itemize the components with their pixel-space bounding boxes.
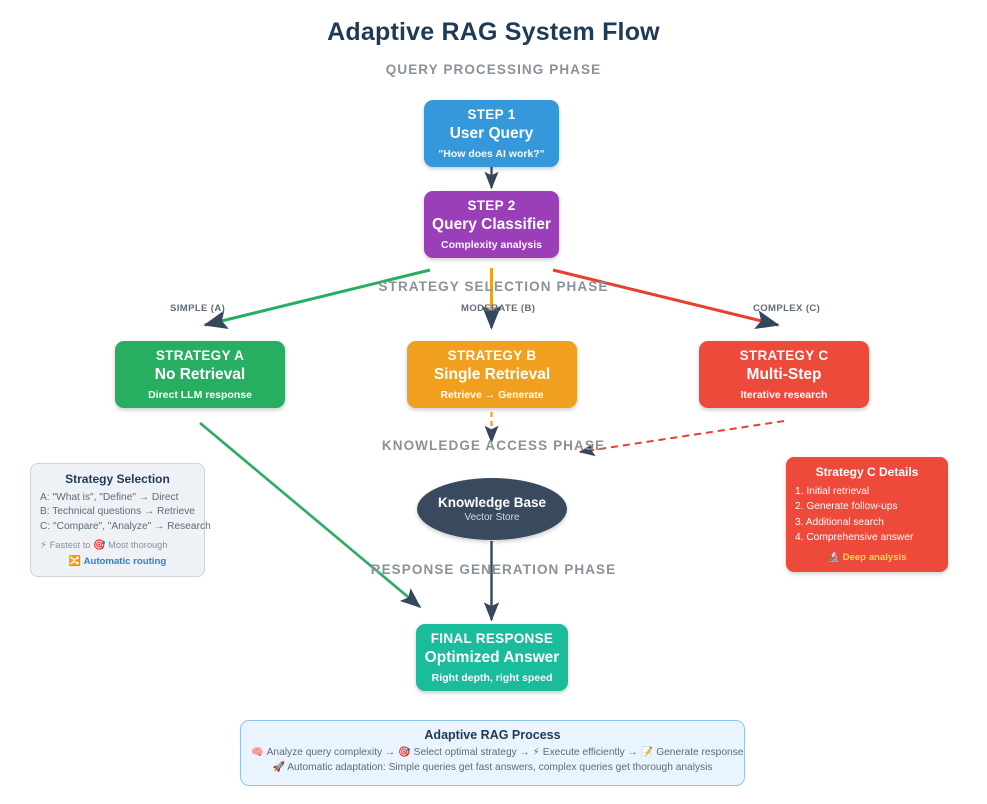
- summary-step-separator: →: [517, 747, 533, 758]
- page-title: Adaptive RAG System Flow: [0, 18, 987, 47]
- edge-label-moderate: MODERATE (B): [461, 303, 535, 314]
- legend-line: B: Technical questions → Retrieve: [40, 505, 195, 519]
- summary-step-icon: ⚡: [533, 747, 543, 758]
- summary-line-adaptation: 🚀 Automatic adaptation: Simple queries g…: [251, 760, 734, 775]
- summary-step-label: Analyze query complexity: [267, 747, 383, 758]
- edge-label-simple: SIMPLE (A): [170, 303, 225, 314]
- detail-line: 4. Comprehensive answer: [795, 530, 939, 545]
- adaptive-rag-process-panel: Adaptive RAG Process 🧠 Analyze query com…: [240, 720, 745, 786]
- summary-step-icon: 🎯: [398, 747, 414, 758]
- diagram-canvas: Adaptive RAG System Flow QUERY PROCESSIN…: [0, 0, 987, 804]
- node-strategy-c[interactable]: STRATEGY C Multi-Step Iterative research: [699, 341, 869, 408]
- node-final-sub: Right depth, right speed: [432, 672, 553, 684]
- legend-title: Strategy Selection: [40, 472, 195, 486]
- node-step1-headline: User Query: [450, 124, 534, 143]
- node-step2[interactable]: STEP 2 Query Classifier Complexity analy…: [424, 191, 559, 258]
- microscope-icon: 🔬: [827, 552, 839, 563]
- detail-line: 3. Additional search: [795, 515, 939, 530]
- detail-line: 1. Initial retrieval: [795, 484, 939, 499]
- strategy-selection-legend: Strategy Selection A: "What is", "Define…: [30, 463, 205, 577]
- node-step1[interactable]: STEP 1 User Query "How does AI work?": [424, 100, 559, 167]
- legend-footer: 🔀 Automatic routing: [40, 556, 195, 567]
- node-strategy-c-sub: Iterative research: [741, 389, 828, 401]
- summary-step-icon: 📝: [641, 747, 657, 758]
- node-strategy-b-headline: Single Retrieval: [434, 365, 550, 384]
- node-strategy-c-headline: Multi-Step: [747, 365, 822, 384]
- detail-line: 2. Generate follow-ups: [795, 499, 939, 514]
- node-strategy-a-headline: No Retrieval: [155, 365, 245, 384]
- legend-footer-text: Automatic routing: [84, 556, 167, 567]
- node-final-response[interactable]: FINAL RESPONSE Optimized Answer Right de…: [416, 624, 568, 691]
- node-strategy-a-kicker: STRATEGY A: [156, 348, 244, 365]
- shuffle-icon: 🔀: [69, 556, 81, 567]
- summary-step-icon: 🧠: [251, 747, 267, 758]
- summary-line-adaptation-text: Automatic adaptation: Simple queries get…: [287, 762, 712, 773]
- summary-step-separator: →: [625, 747, 641, 758]
- detail-title: Strategy C Details: [795, 465, 939, 479]
- node-final-kicker: FINAL RESPONSE: [431, 631, 553, 648]
- node-strategy-b[interactable]: STRATEGY B Single Retrieval Retrieve → G…: [407, 341, 577, 408]
- summary-step-separator: →: [382, 747, 398, 758]
- node-strategy-b-kicker: STRATEGY B: [448, 348, 537, 365]
- legend-line: C: "Compare", "Analyze" → Research: [40, 520, 195, 534]
- lightning-icon: ⚡: [40, 540, 47, 551]
- node-step2-sub: Complexity analysis: [441, 239, 542, 251]
- legend-line: A: "What is", "Define" → Direct: [40, 491, 195, 505]
- summary-title: Adaptive RAG Process: [251, 728, 734, 742]
- target-icon: 🎯: [93, 540, 105, 551]
- node-knowledge-base[interactable]: Knowledge Base Vector Store: [417, 478, 567, 540]
- phase-label-strategy: STRATEGY SELECTION PHASE: [0, 279, 987, 294]
- node-strategy-a-sub: Direct LLM response: [148, 389, 252, 401]
- node-strategy-a[interactable]: STRATEGY A No Retrieval Direct LLM respo…: [115, 341, 285, 408]
- phase-label-knowledge: KNOWLEDGE ACCESS PHASE: [0, 438, 987, 453]
- summary-step-label: Generate response: [656, 747, 743, 758]
- node-step2-headline: Query Classifier: [432, 215, 551, 234]
- strategy-c-details-card: Strategy C Details 1. Initial retrieval …: [786, 457, 948, 572]
- node-knowledge-base-sub: Vector Store: [464, 512, 519, 523]
- detail-footer: 🔬 Deep analysis: [795, 552, 939, 563]
- edge-label-complex: COMPLEX (C): [753, 303, 820, 314]
- legend-note-prefix: Fastest to: [50, 540, 91, 550]
- node-step1-sub: "How does AI work?": [438, 148, 544, 160]
- summary-line-steps: 🧠 Analyze query complexity → 🎯 Select op…: [251, 745, 734, 760]
- legend-note: ⚡ Fastest to 🎯 Most thorough: [40, 540, 195, 551]
- phase-label-query: QUERY PROCESSING PHASE: [0, 62, 987, 77]
- node-strategy-b-sub: Retrieve → Generate: [440, 389, 543, 401]
- summary-step-label: Execute efficiently: [543, 747, 625, 758]
- node-step1-kicker: STEP 1: [467, 107, 515, 124]
- rocket-icon: 🚀: [272, 762, 284, 773]
- node-knowledge-base-headline: Knowledge Base: [438, 495, 546, 510]
- node-step2-kicker: STEP 2: [467, 198, 515, 215]
- legend-note-suffix: Most thorough: [108, 540, 167, 550]
- summary-step-label: Select optimal strategy: [414, 747, 517, 758]
- node-final-headline: Optimized Answer: [425, 648, 560, 667]
- node-strategy-c-kicker: STRATEGY C: [740, 348, 829, 365]
- detail-footer-text: Deep analysis: [843, 552, 907, 563]
